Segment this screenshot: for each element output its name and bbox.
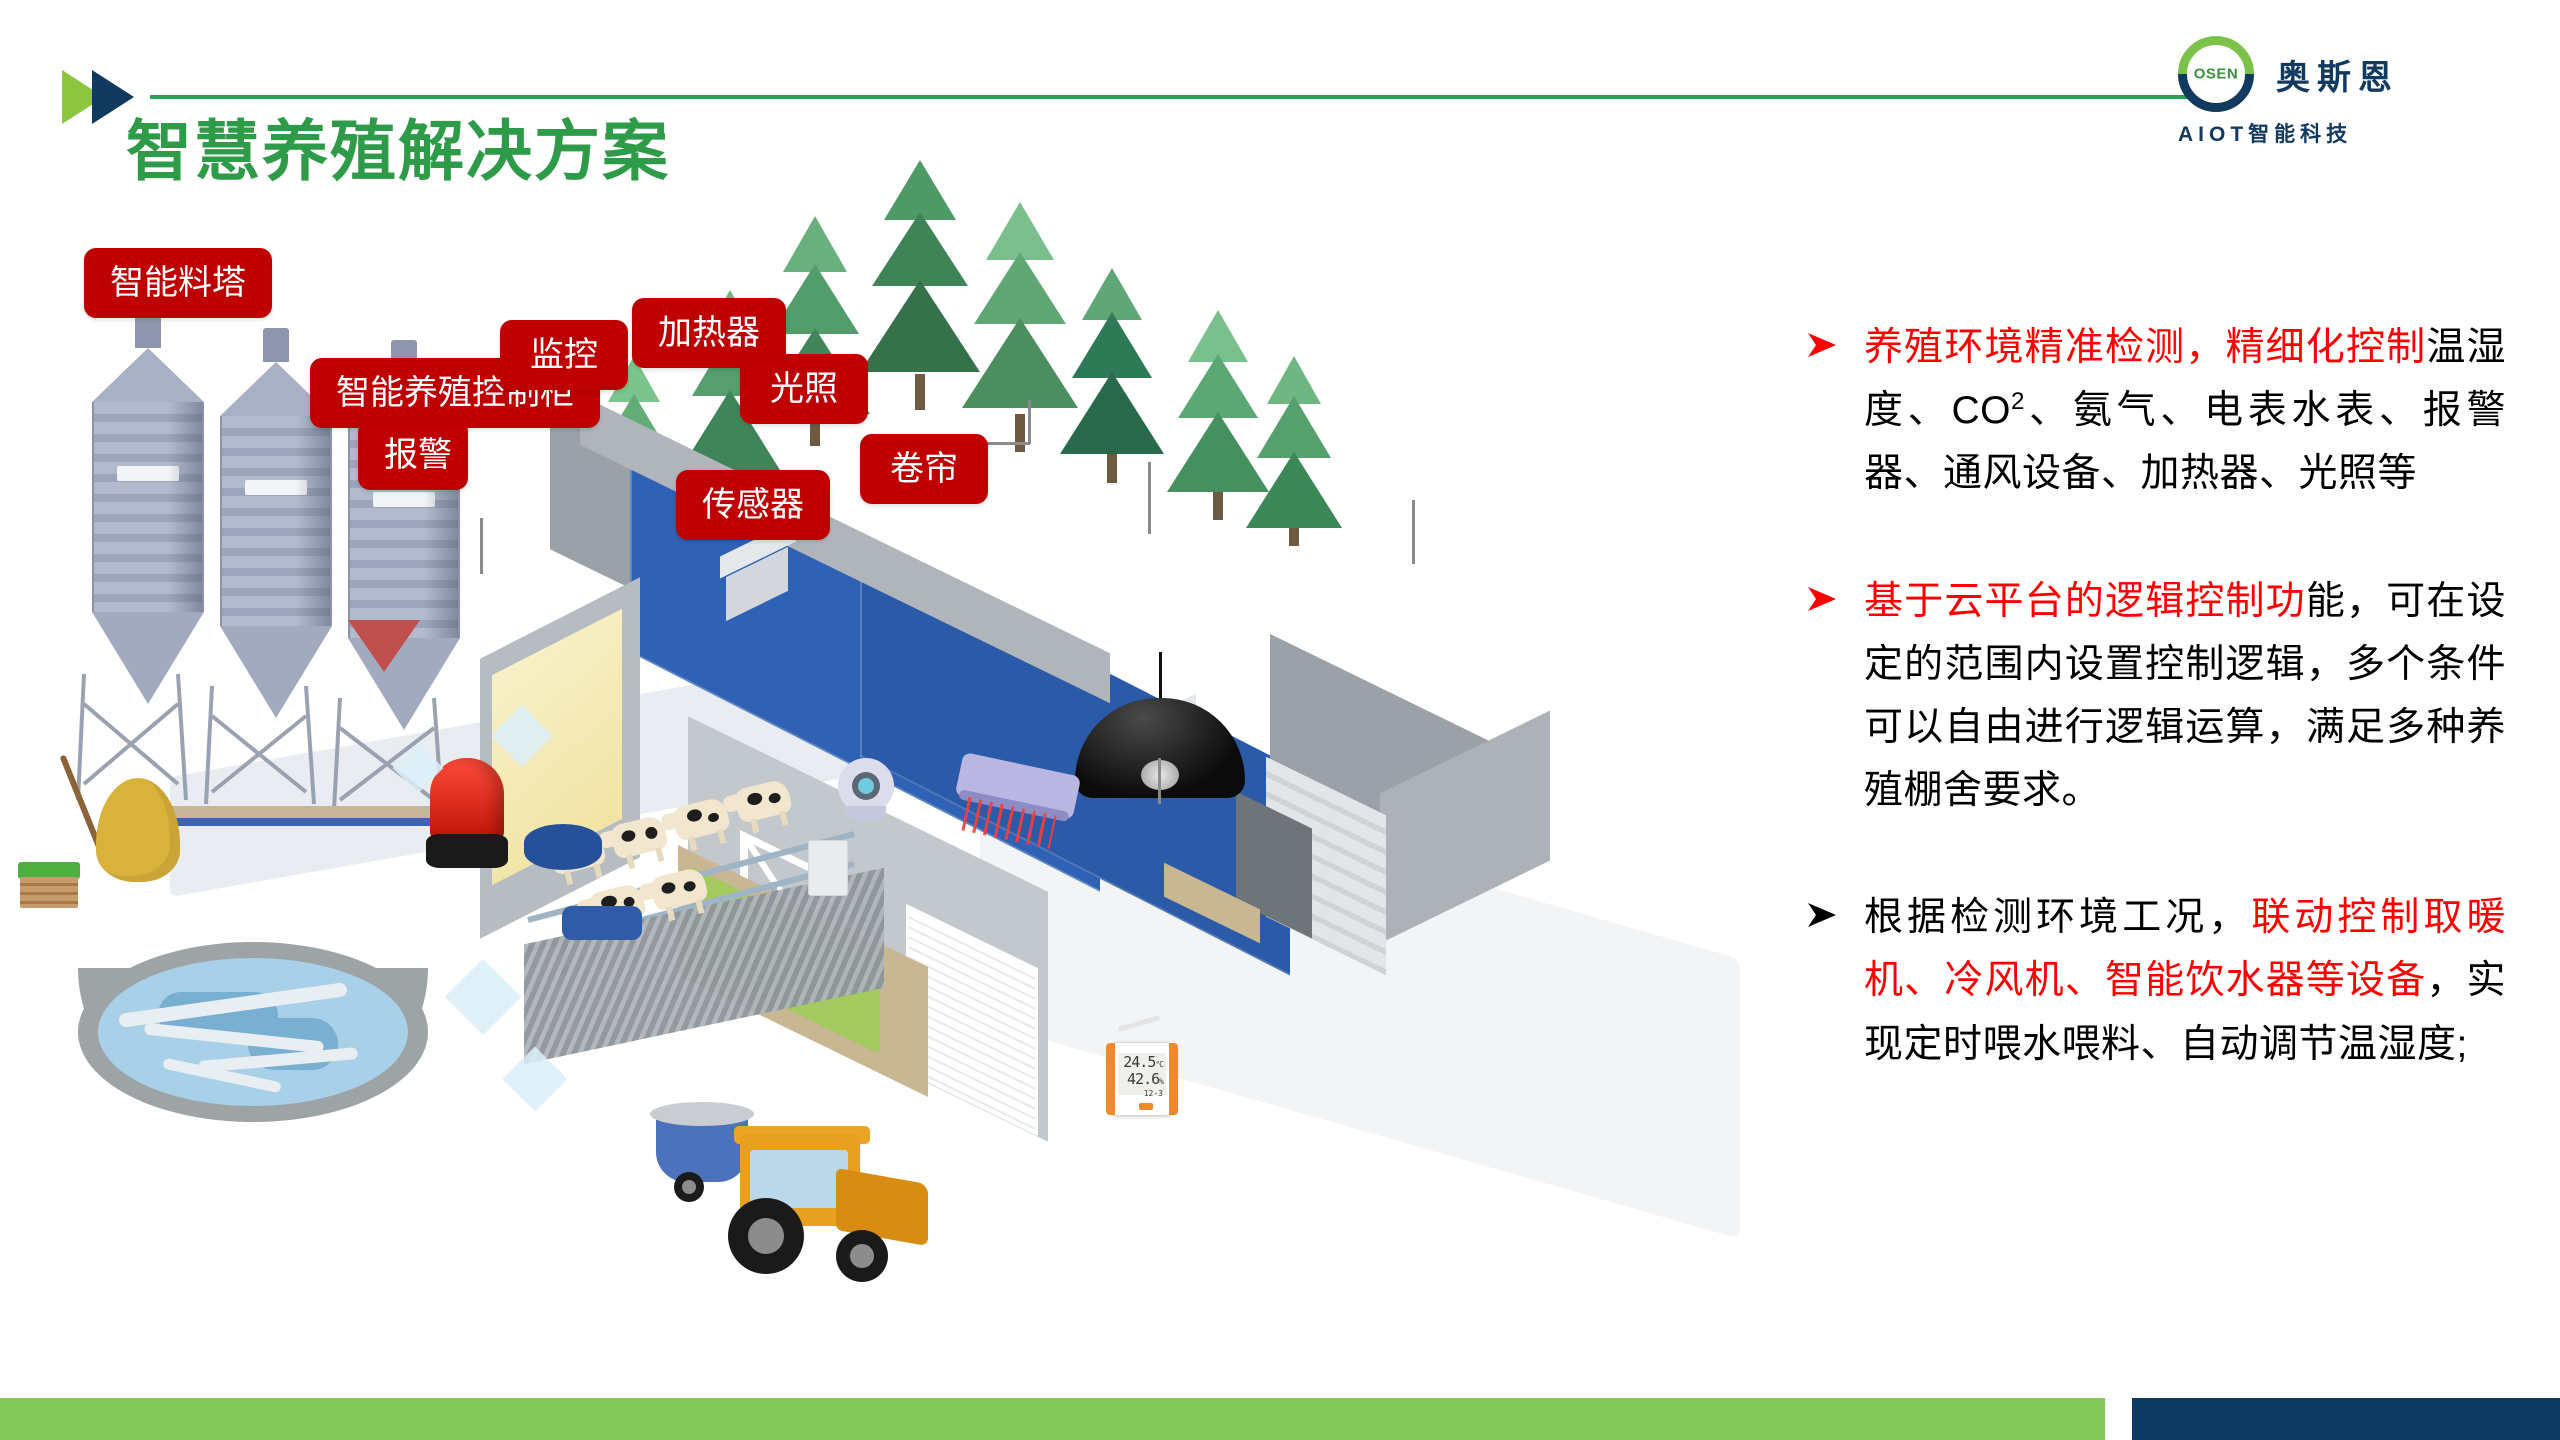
sensor-temperature: 24.5 [1123,1053,1155,1071]
footer-bar-green [0,1398,2105,1440]
feed-robot [562,906,642,940]
leader-line [480,518,483,574]
company-tagline: AIOT智能科技 [2178,118,2488,148]
camera-control-box [808,840,848,896]
bullet-item: 基于云平台的逻辑控制功能，可在设定的范围内设置控制逻辑，多个条件可以自由进行逻辑… [1806,570,2506,823]
bullet-segment: CO [1951,389,2011,432]
bullet-item: 根据检测环境工况，联动控制取暖机、冷风机、智能饮水器等设备，实现定时喂水喂料、自… [1806,886,2506,1076]
bullet-text: 养殖环境精准检测，精细化控制温湿度、CO2、氨气、电表水表、报警器、通风设备、加… [1864,316,2506,506]
arrow-bullet-icon [1806,900,1840,930]
feature-bullet-list: 养殖环境精准检测，精细化控制温湿度、CO2、氨气、电表水表、报警器、通风设备、加… [1806,316,2506,1126]
slide-root: 智慧养殖解决方案 OSEN 奥斯恩 AIOT智能科技 [0,0,2560,1440]
leader-line [1158,758,1161,804]
feed-silo [92,314,204,704]
bullet-text: 基于云平台的逻辑控制功能，可在设定的范围内设置控制逻辑，多个条件可以自由进行逻辑… [1864,570,2506,823]
osen-ring-icon: OSEN [2178,36,2254,112]
water-pool [78,942,428,1122]
feed-tractor [650,1090,970,1330]
logo-mark-text: OSEN [2178,66,2254,83]
company-name-cn: 奥斯恩 [2276,50,2399,99]
bullet-segment: 根据检测环境工况， [1864,896,2251,939]
bullet-text: 根据检测环境工况，联动控制取暖机、冷风机、智能饮水器等设备，实现定时喂水喂料、自… [1864,886,2506,1076]
farm-illustration: 24.5°C 42.6% 12-3 [0,150,1800,1390]
bullet-segment: 基于云平台的逻辑控制功 [1864,580,2306,623]
security-camera-icon [838,758,894,814]
sensor-temperature-unit: °C [1155,1060,1163,1069]
leader-line [1412,500,1415,564]
sensor-extra-readout: 12-3 [1121,1089,1163,1099]
alarm-beacon-icon [430,758,504,870]
feed-hopper [348,620,420,672]
cow [671,796,732,842]
badge-lighting[interactable]: 光照 [740,354,868,424]
header-rule [150,95,2194,99]
badge-smart-feed-tower[interactable]: 智能料塔 [84,248,272,318]
arrow-bullet-icon [1806,330,1840,360]
arrow-bullet-icon [1806,584,1840,614]
temperature-humidity-sensor: 24.5°C 42.6% 12-3 [1112,1042,1172,1116]
badge-sensor[interactable]: 传感器 [676,470,830,540]
side-shed [1230,690,1590,1010]
feed-barrel [524,824,602,870]
sensor-humidity-unit: % [1159,1077,1163,1086]
badge-roller-shutter[interactable]: 卷帘 [860,434,988,504]
bullet-superscript: 2 [2011,388,2025,415]
badge-monitoring[interactable]: 监控 [500,320,628,390]
grass-crate [18,862,80,908]
bullet-segment: 养殖环境精准检测，精细化控制 [1864,326,2426,369]
leader-line [1028,400,1031,444]
feed-mixer-trailer [656,1112,748,1182]
badge-alarm[interactable]: 报警 [358,420,468,490]
bullet-item: 养殖环境精准检测，精细化控制温湿度、CO2、氨气、电表水表、报警器、通风设备、加… [1806,316,2506,506]
sensor-humidity: 42.6 [1127,1070,1159,1088]
leader-line [1148,462,1151,534]
footer-bar-navy [2132,1398,2560,1440]
brand-logo: OSEN 奥斯恩 AIOT智能科技 [2178,36,2488,148]
